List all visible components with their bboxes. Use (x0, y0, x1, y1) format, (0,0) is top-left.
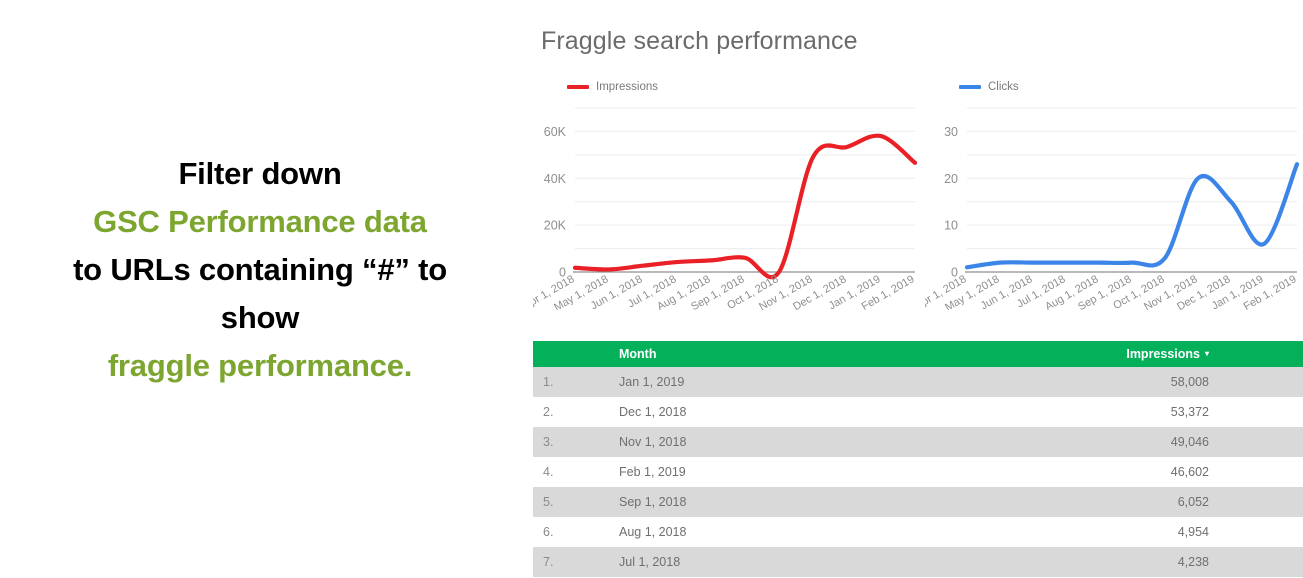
table-cell-clicks: 6 (1219, 367, 1303, 397)
caption-line-5: fraggle performance. (0, 342, 520, 390)
legend-swatch-icon (959, 85, 981, 89)
dashboard-panel: Fraggle search performance Impressions 0… (533, 0, 1303, 578)
table-row[interactable]: 3.Nov 1, 201849,04620 (533, 427, 1303, 457)
table-row[interactable]: 2.Dec 1, 201853,37215 (533, 397, 1303, 427)
column-header-clicks[interactable]: Clicks (1219, 341, 1303, 367)
table-cell-impressions: 53,372 (959, 397, 1219, 427)
table-cell-month: Aug 1, 2018 (609, 517, 959, 547)
table-cell-clicks: 3 (1219, 487, 1303, 517)
caption-line-4: show (0, 294, 520, 342)
y-axis-tick-label: 20K (544, 219, 567, 233)
y-axis-tick-label: 20 (944, 172, 958, 186)
table-cell-month: Feb 1, 2019 (609, 457, 959, 487)
column-header-index[interactable] (533, 341, 609, 367)
caption-block: Filter downGSC Performance datato URLs c… (0, 150, 520, 390)
table-cell-idx: 6. (533, 517, 609, 547)
caption-line-3: to URLs containing “#” to (0, 246, 520, 294)
table-row[interactable]: 7.Jul 1, 20184,2382 (533, 547, 1303, 577)
chart-clicks: Clicks 0102030Apr 1, 2018May 1, 2018Jun … (925, 78, 1303, 310)
table-cell-clicks: 2 (1219, 517, 1303, 547)
column-header-impressions-label: Impressions (1126, 347, 1200, 361)
table-cell-clicks: 20 (1219, 427, 1303, 457)
performance-table: Month Impressions▾ Clicks 1.Jan 1, 20195… (533, 341, 1303, 577)
table-cell-month: Jul 1, 2018 (609, 547, 959, 577)
caption-line-2: GSC Performance data (0, 198, 520, 246)
legend-label-impressions: Impressions (596, 81, 658, 93)
table-cell-impressions: 4,238 (959, 547, 1219, 577)
table-row[interactable]: 6.Aug 1, 20184,9542 (533, 517, 1303, 547)
table-cell-idx: 4. (533, 457, 609, 487)
table-row[interactable]: 5.Sep 1, 20186,0523 (533, 487, 1303, 517)
table-row[interactable]: 1.Jan 1, 201958,0086 (533, 367, 1303, 397)
table-row[interactable]: 4.Feb 1, 201946,60223 (533, 457, 1303, 487)
table-cell-impressions: 49,046 (959, 427, 1219, 457)
data-line (575, 136, 915, 278)
column-header-impressions[interactable]: Impressions▾ (959, 341, 1219, 367)
legend-impressions: Impressions (567, 81, 658, 93)
legend-clicks: Clicks (959, 81, 1019, 93)
data-line (967, 164, 1297, 267)
table-cell-impressions: 58,008 (959, 367, 1219, 397)
table-cell-clicks: 23 (1219, 457, 1303, 487)
clicks-line-svg: 0102030Apr 1, 2018May 1, 2018Jun 1, 2018… (925, 100, 1303, 310)
table-cell-clicks: 15 (1219, 397, 1303, 427)
table-header-row: Month Impressions▾ Clicks (533, 341, 1303, 367)
page-title: Fraggle search performance (541, 27, 858, 56)
legend-swatch-icon (567, 85, 589, 89)
y-axis-tick-label: 30 (944, 125, 958, 139)
impressions-line-svg: 020K40K60KApr 1, 2018May 1, 2018Jun 1, 2… (533, 100, 921, 310)
table-cell-idx: 5. (533, 487, 609, 517)
chart-impressions: Impressions 020K40K60KApr 1, 2018May 1, … (533, 78, 921, 310)
table-cell-idx: 1. (533, 367, 609, 397)
plot-area-clicks: 0102030Apr 1, 2018May 1, 2018Jun 1, 2018… (925, 100, 1303, 310)
table-cell-month: Nov 1, 2018 (609, 427, 959, 457)
y-axis-tick-label: 40K (544, 172, 567, 186)
table-cell-month: Sep 1, 2018 (609, 487, 959, 517)
table-cell-impressions: 6,052 (959, 487, 1219, 517)
table-cell-idx: 2. (533, 397, 609, 427)
table-header: Month Impressions▾ Clicks (533, 341, 1303, 367)
y-axis-tick-label: 10 (944, 219, 958, 233)
y-axis-tick-label: 60K (544, 125, 567, 139)
table-cell-impressions: 46,602 (959, 457, 1219, 487)
plot-area-impressions: 020K40K60KApr 1, 2018May 1, 2018Jun 1, 2… (533, 100, 921, 310)
table-cell-month: Jan 1, 2019 (609, 367, 959, 397)
table-cell-clicks: 2 (1219, 547, 1303, 577)
caption-line-1: Filter down (0, 150, 520, 198)
column-header-month[interactable]: Month (609, 341, 959, 367)
sort-desc-caret-icon[interactable]: ▾ (1205, 349, 1209, 358)
table-body: 1.Jan 1, 201958,00862.Dec 1, 201853,3721… (533, 367, 1303, 577)
table-cell-impressions: 4,954 (959, 517, 1219, 547)
table-cell-idx: 3. (533, 427, 609, 457)
table-cell-month: Dec 1, 2018 (609, 397, 959, 427)
legend-label-clicks: Clicks (988, 81, 1019, 93)
table-cell-idx: 7. (533, 547, 609, 577)
